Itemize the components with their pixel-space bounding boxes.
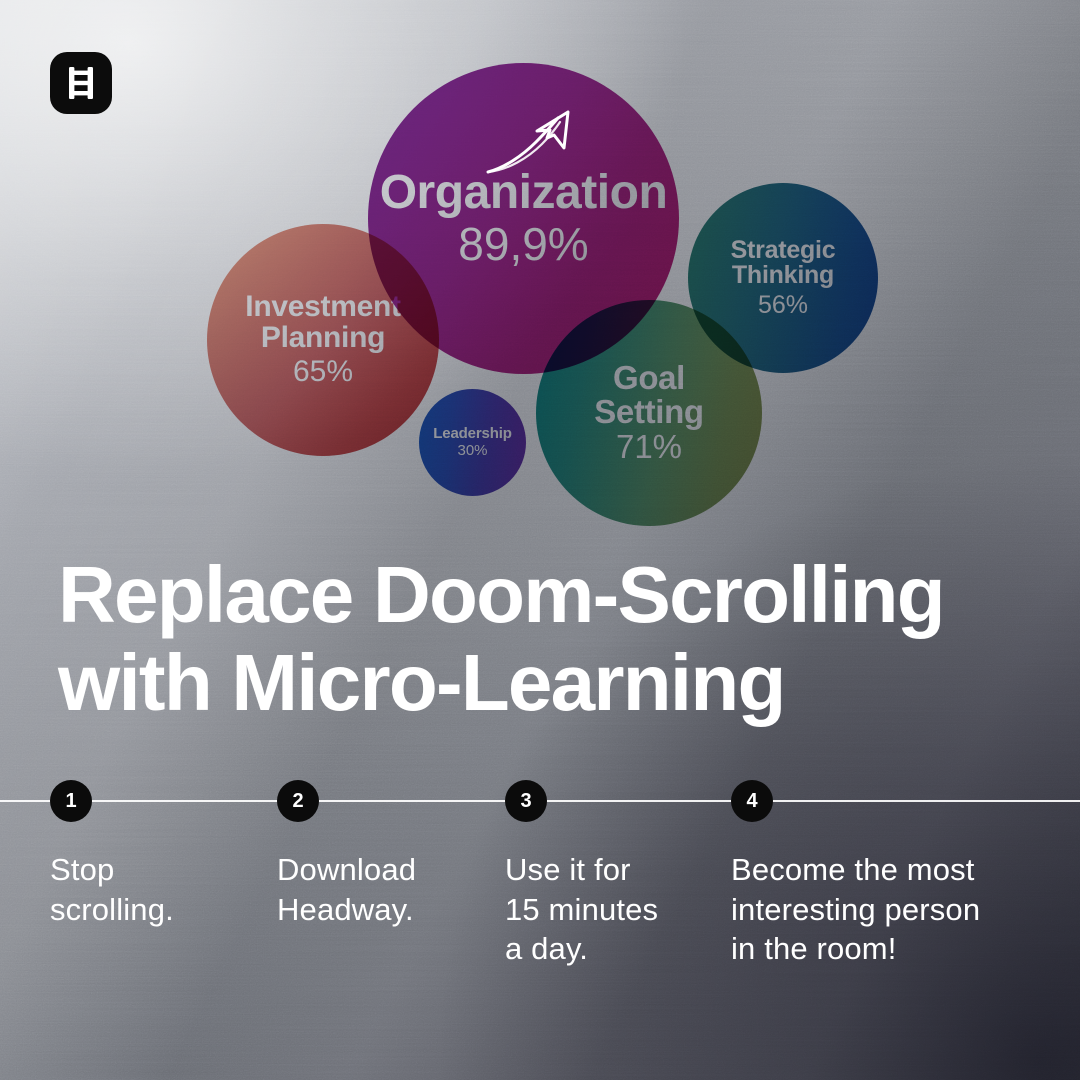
step-number-badge: 1: [50, 780, 92, 822]
bubble-leadership[interactable]: Leadership 30%: [419, 389, 526, 496]
step-number-badge: 4: [731, 780, 773, 822]
bubble-label-line-2: Setting: [594, 393, 704, 430]
page-title: Replace Doom-Scrolling with Micro-Learni…: [58, 552, 1038, 727]
bubble-value: 65%: [293, 356, 353, 388]
step-item-2: 2 Download Headway.: [277, 780, 497, 929]
headline-line-2: with Micro-Learning: [58, 640, 1038, 726]
step-number-badge: 3: [505, 780, 547, 822]
bubble-label-line-1: Goal: [613, 359, 685, 396]
skills-bubble-chart: Investment Planning 65% Organization 89,…: [0, 0, 1080, 560]
step-text: Use it for 15 minutes a day.: [505, 850, 725, 969]
step-item-4: 4 Become the most interesting person in …: [731, 780, 1041, 969]
headline-line-1: Replace Doom-Scrolling: [58, 552, 1038, 638]
bubble-label-line-1: Leadership: [433, 425, 512, 442]
bubble-value: 71%: [616, 430, 682, 465]
bubble-goal-setting[interactable]: Goal Setting 71%: [536, 300, 762, 526]
step-text: Stop scrolling.: [50, 850, 270, 929]
bubble-label-line-1: Organization: [380, 166, 668, 219]
step-item-3: 3 Use it for 15 minutes a day.: [505, 780, 725, 969]
bubble-value: 89,9%: [458, 220, 588, 268]
bubble-label-line-2: Planning: [261, 321, 385, 354]
steps-list: 1 Stop scrolling. 2 Download Headway. 3 …: [0, 780, 1080, 1010]
step-item-1: 1 Stop scrolling.: [50, 780, 270, 929]
bubble-value: 56%: [758, 292, 808, 318]
bubble-value: 30%: [457, 443, 487, 459]
step-number-badge: 2: [277, 780, 319, 822]
promo-card: Investment Planning 65% Organization 89,…: [0, 0, 1080, 1080]
bubble-label-line-1: Investment: [245, 290, 400, 323]
bubble-label-line-2: Thinking: [732, 261, 834, 289]
step-text: Download Headway.: [277, 850, 497, 929]
step-text: Become the most interesting person in th…: [731, 850, 1041, 969]
bubble-label-line-1: Strategic: [731, 236, 836, 264]
